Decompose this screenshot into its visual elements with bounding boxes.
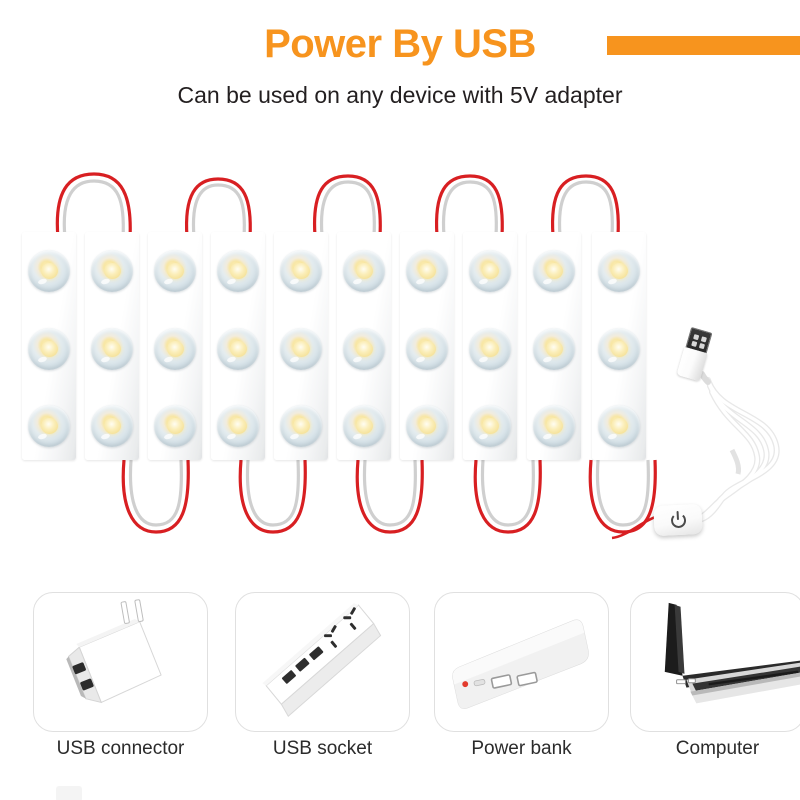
wall-charger-adapter-icon: [34, 593, 207, 731]
portable-battery-icon: [435, 593, 608, 731]
led-module: [211, 232, 265, 460]
led-module: [592, 232, 646, 460]
wire-bottom-2: [235, 458, 345, 542]
led-lens: [598, 328, 640, 370]
wire-bottom-3: [352, 458, 462, 542]
wire-top-4: [432, 172, 544, 238]
led-lens: [154, 328, 196, 370]
wire-bottom-1: [118, 458, 228, 542]
compat-label-usb-connector: USB connector: [33, 738, 208, 760]
led-lens: [343, 405, 385, 447]
product-marketing-image: Power By USB Can be used on any device w…: [0, 0, 800, 800]
led-module: [400, 232, 454, 460]
wire-top-3: [310, 172, 422, 238]
led-lens: [280, 250, 322, 292]
wire-top-5: [548, 172, 660, 238]
led-lens: [533, 405, 575, 447]
led-lens: [469, 328, 511, 370]
power-icon: [670, 512, 686, 528]
led-lens: [28, 328, 70, 370]
led-module: [22, 232, 76, 460]
led-lens: [469, 250, 511, 292]
led-lens: [406, 250, 448, 292]
compat-card-power-bank: [434, 592, 609, 732]
led-lens: [217, 250, 259, 292]
led-lens: [406, 405, 448, 447]
power-strip-icon: [236, 593, 409, 731]
led-lens: [280, 328, 322, 370]
compat-card-computer: [630, 592, 800, 732]
compat-label-power-bank: Power bank: [434, 738, 609, 760]
compat-label-usb-socket: USB socket: [235, 738, 410, 760]
led-lens: [343, 328, 385, 370]
led-module: [463, 232, 517, 460]
led-lens: [533, 328, 575, 370]
led-lens: [217, 405, 259, 447]
led-module: [337, 232, 391, 460]
compat-label-computer: Computer: [630, 738, 800, 760]
wire-top-1: [52, 170, 172, 240]
inline-power-switch[interactable]: [653, 504, 703, 536]
led-lens: [154, 250, 196, 292]
led-module: [85, 232, 139, 460]
led-lens: [598, 405, 640, 447]
led-lens: [28, 250, 70, 292]
led-lens: [343, 250, 385, 292]
led-lens: [598, 250, 640, 292]
led-lens: [280, 405, 322, 447]
led-module-strip: [0, 0, 800, 560]
led-module: [527, 232, 581, 460]
led-lens: [469, 405, 511, 447]
led-lens: [28, 405, 70, 447]
led-lens: [154, 405, 196, 447]
compat-card-usb-connector: [33, 592, 208, 732]
led-lens: [91, 328, 133, 370]
led-module: [274, 232, 328, 460]
led-lens: [217, 328, 259, 370]
laptop-icon: [631, 593, 800, 731]
led-lens: [91, 250, 133, 292]
bottom-cropped-element: [56, 786, 82, 800]
led-lens: [533, 250, 575, 292]
wire-top-2: [182, 175, 292, 239]
wire-bottom-4: [470, 458, 580, 542]
led-lens: [91, 405, 133, 447]
led-module: [148, 232, 202, 460]
led-lens: [406, 328, 448, 370]
compat-card-usb-socket: [235, 592, 410, 732]
